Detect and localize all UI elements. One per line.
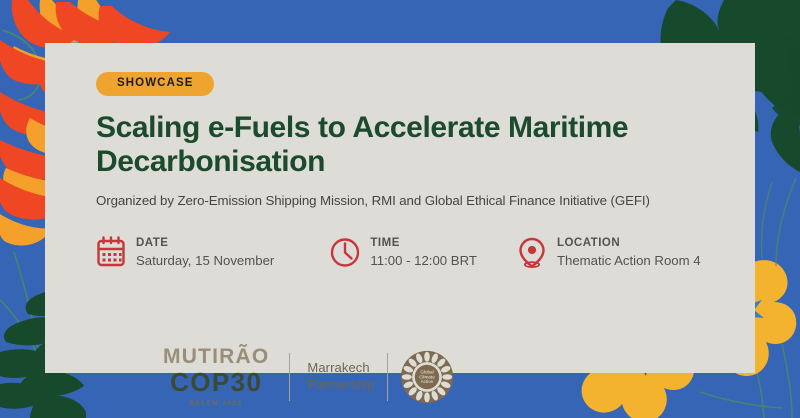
meta-location-text: LOCATION Thematic Action Room 4 xyxy=(557,235,701,270)
event-title: Scaling e-Fuels to Accelerate Maritime D… xyxy=(96,111,716,181)
meta-location-label: LOCATION xyxy=(557,236,701,250)
marrakech-line-1: Marrakech xyxy=(307,360,375,377)
logo-divider-left xyxy=(289,353,290,401)
cop30-logo: MUTIRÃO COP30 BELÉM 2025 xyxy=(163,346,269,407)
meta-time-label: TIME xyxy=(370,236,477,250)
meta-date-value: Saturday, 15 November xyxy=(136,252,274,270)
calendar-icon xyxy=(96,236,126,268)
map-pin-icon xyxy=(517,236,547,268)
event-banner: SHOWCASE Scaling e-Fuels to Accelerate M… xyxy=(0,0,800,418)
clock-icon xyxy=(330,236,360,268)
meta-date-label: DATE xyxy=(136,236,274,250)
cop30-mutirao-text: MUTIRÃO xyxy=(163,346,269,367)
meta-time-text: TIME 11:00 - 12:00 BRT xyxy=(370,235,477,270)
logo-divider-right xyxy=(387,353,388,401)
global-climate-action-seal-icon: Global Climate Action xyxy=(400,350,454,404)
meta-time-value: 11:00 - 12:00 BRT xyxy=(370,252,477,270)
cop30-belem-text: BELÉM 2025 xyxy=(163,400,269,407)
seal-line-3: Action xyxy=(421,379,434,384)
event-meta-row: DATE Saturday, 15 November TIME 11:00 - … xyxy=(96,235,737,270)
marrakech-line-2: Partnership xyxy=(307,377,375,394)
meta-date: DATE Saturday, 15 November xyxy=(96,235,330,270)
meta-location-value: Thematic Action Room 4 xyxy=(557,252,701,270)
logo-row: MUTIRÃO COP30 BELÉM 2025 Marrakech Partn… xyxy=(163,346,454,407)
showcase-badge: SHOWCASE xyxy=(96,72,214,96)
meta-date-text: DATE Saturday, 15 November xyxy=(136,235,274,270)
meta-location: LOCATION Thematic Action Room 4 xyxy=(517,235,737,270)
card-content: SHOWCASE Scaling e-Fuels to Accelerate M… xyxy=(96,72,737,270)
cop30-text: COP30 xyxy=(163,369,269,396)
event-card: SHOWCASE Scaling e-Fuels to Accelerate M… xyxy=(45,43,755,373)
meta-time: TIME 11:00 - 12:00 BRT xyxy=(330,235,517,270)
event-organizers: Organized by Zero-Emission Shipping Miss… xyxy=(96,192,737,209)
marrakech-partnership-logo: Marrakech Partnership xyxy=(307,360,375,394)
